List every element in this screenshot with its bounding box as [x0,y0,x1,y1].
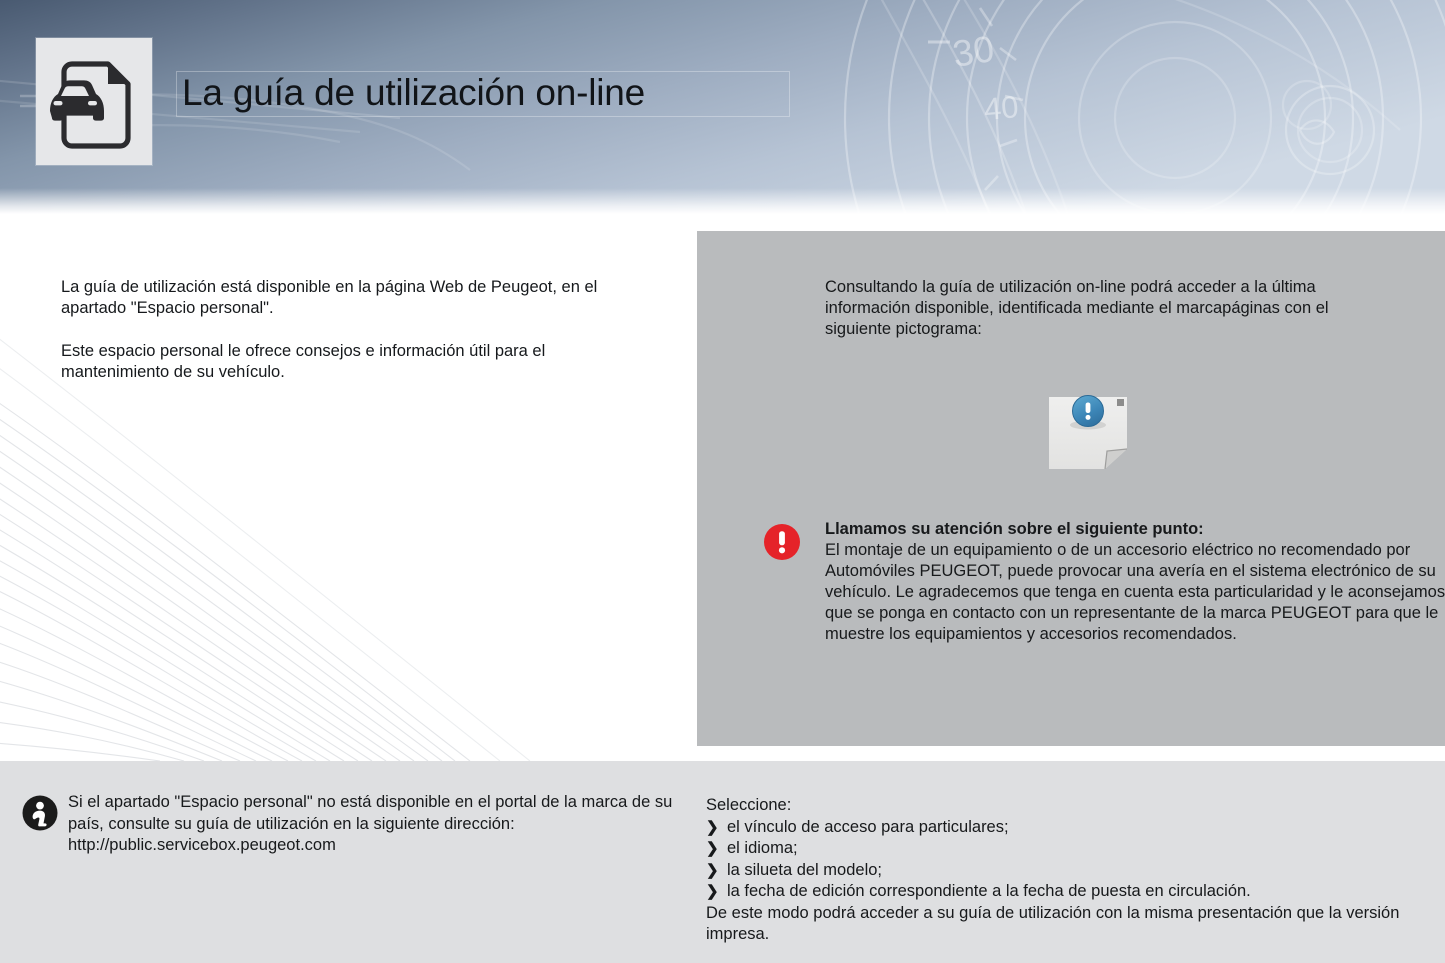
chevron-right-icon: ❯ [706,881,719,903]
warning-text: El montaje de un equipamiento o de un ac… [825,541,1445,643]
header-bottom-fade [0,188,1445,214]
bottom-left-text: Si el apartado "Espacio personal" no est… [68,792,682,857]
panel-intro-text: Consultando la guía de utilización on-li… [825,277,1385,340]
list-item: ❯ el idioma; [706,838,1406,860]
select-lead-label: Seleccione: [706,795,1406,817]
warning-body: Llamamos su atención sobre el siguiente … [825,519,1445,645]
left-text-column: La guía de utilización está disponible e… [61,277,651,383]
closing-text: De este modo podrá acceder a su guía de … [706,903,1406,946]
document-car-icon [36,38,152,165]
document-car-icon-svg [36,38,152,165]
list-item-label: el idioma; [727,839,798,857]
bottom-left-description: Si el apartado "Espacio personal" no est… [68,793,672,833]
list-item: ❯ la fecha de edición correspondiente a … [706,881,1406,903]
page-root: 30 40 La guía de uti [0,0,1445,963]
page-title: La guía de utilización on-line [182,70,645,116]
page-header: 30 40 La guía de uti [0,0,1445,214]
chevron-right-icon: ❯ [706,838,719,860]
bookmark-page-info-pictogram-svg [1045,391,1131,471]
bookmark-page-info-pictogram [1045,391,1131,471]
list-item: ❯ la silueta del modelo; [706,860,1406,882]
bottom-info-band: Si el apartado "Espacio personal" no est… [0,761,1445,963]
body-area: La guía de utilización está disponible e… [0,214,1445,761]
left-paragraph-1: La guía de utilización está disponible e… [61,277,651,319]
info-person-icon [22,795,58,831]
chevron-right-icon: ❯ [706,860,719,882]
warning-block: Llamamos su atención sobre el siguiente … [763,519,1445,645]
chevron-right-icon: ❯ [706,817,719,839]
warning-exclamation-icon [763,523,801,561]
bottom-left-block: Si el apartado "Espacio personal" no est… [22,792,682,857]
left-paragraph-2: Este espacio personal le ofrece consejos… [61,341,651,383]
list-item: ❯ el vínculo de acceso para particulares… [706,817,1406,839]
svg-text:40: 40 [983,89,1020,127]
select-steps-list: ❯ el vínculo de acceso para particulares… [706,817,1406,903]
online-guide-panel: Consultando la guía de utilización on-li… [697,231,1445,746]
warning-title: Llamamos su atención sobre el siguiente … [825,519,1445,540]
bottom-right-block: Seleccione: ❯ el vínculo de acceso para … [706,795,1406,946]
list-item-label: el vínculo de acceso para particulares; [727,818,1009,836]
list-item-label: la fecha de edición correspondiente a la… [727,882,1251,900]
servicebox-url[interactable]: http://public.servicebox.peugeot.com [68,835,682,857]
list-item-label: la silueta del modelo; [727,861,882,879]
svg-text:30: 30 [950,28,997,75]
